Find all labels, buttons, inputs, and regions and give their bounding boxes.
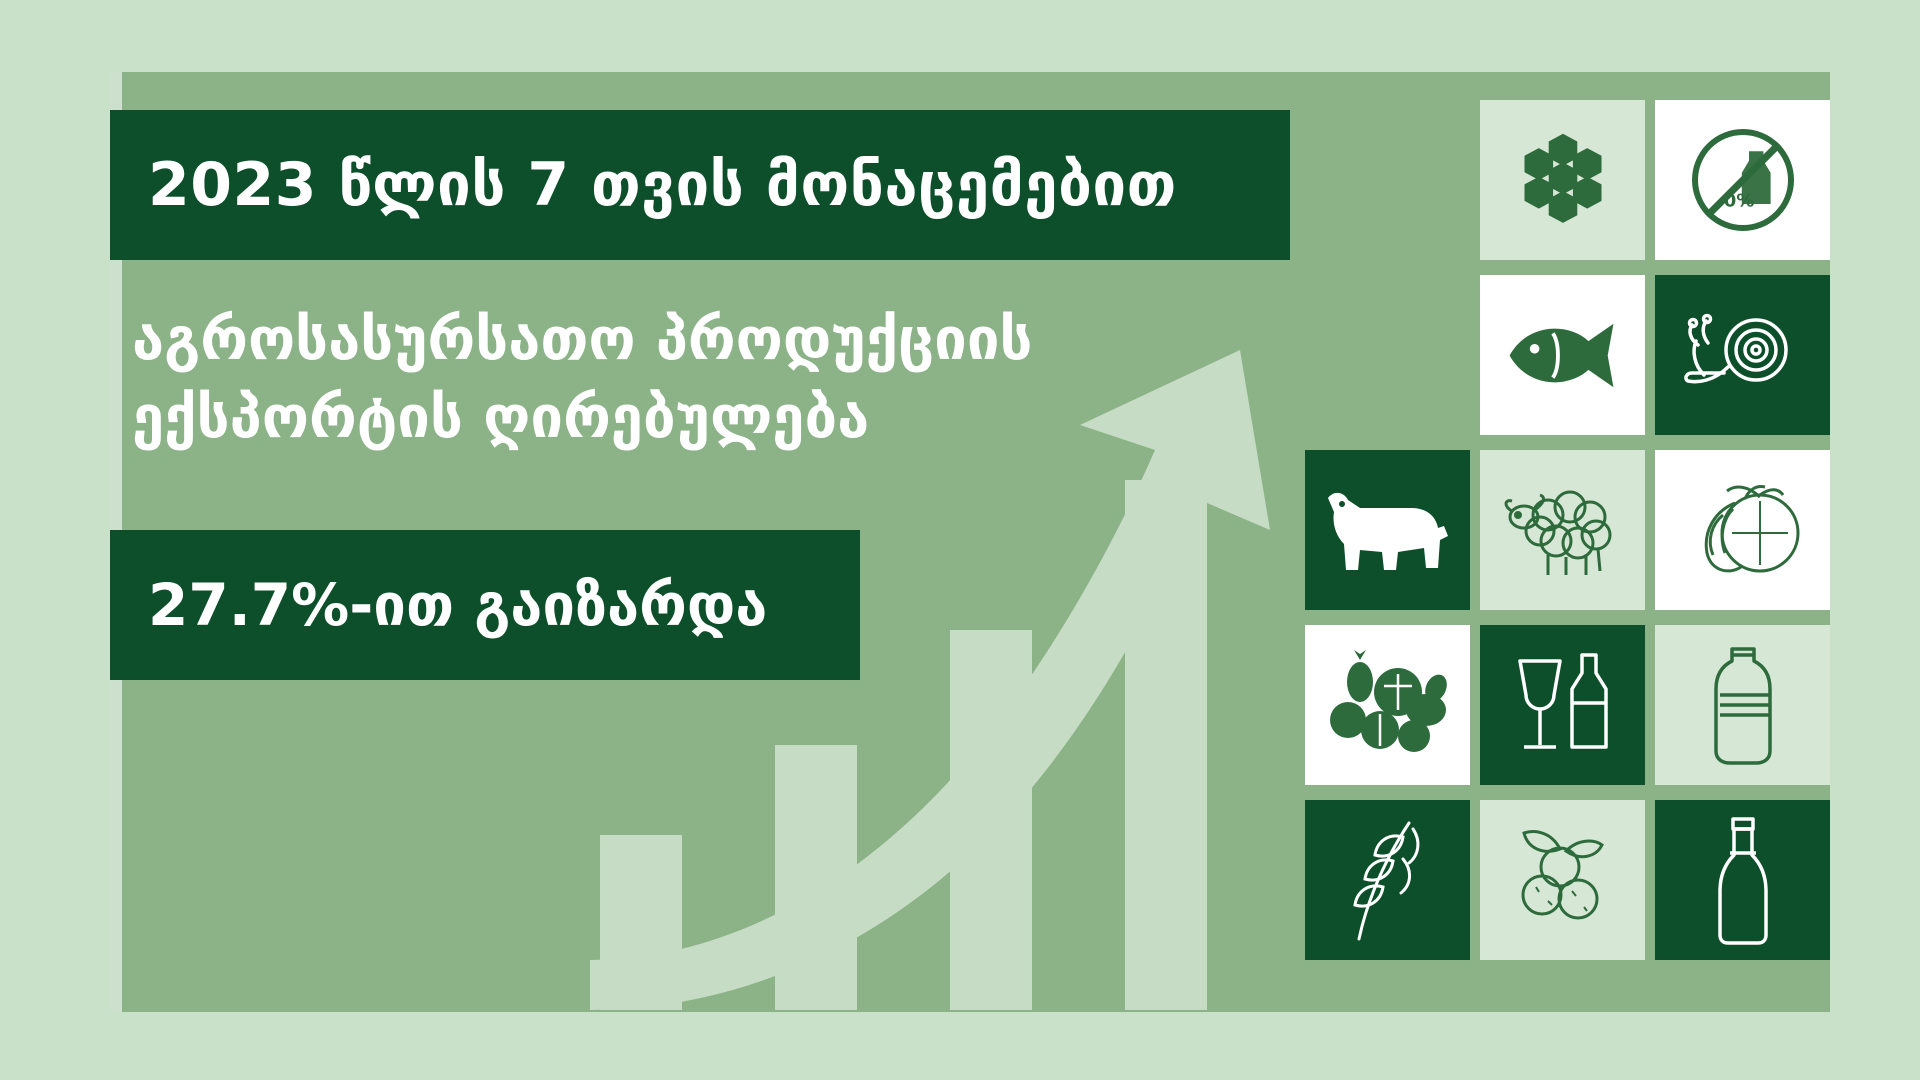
headline-line-1: აგროსასურსათო პროდუქციის	[132, 305, 1032, 373]
water-bottle-icon	[1698, 643, 1788, 768]
sheep-icon	[1500, 475, 1625, 585]
title-bar: 2023 წლის 7 თვის მონაცემებით	[110, 110, 1290, 260]
icon-cell-berries	[1480, 800, 1645, 960]
no-alcohol-icon: 0%	[1683, 120, 1803, 240]
glass-bottle-icon	[1703, 813, 1783, 948]
wine-icon	[1498, 645, 1628, 765]
headline-line-2: ექსპორტის ღირებულება	[132, 378, 1252, 456]
cow-icon	[1320, 478, 1455, 583]
icon-cell-glass-bottle	[1655, 800, 1830, 960]
stat-badge: 27.7%-ით გაიზარდა	[110, 530, 860, 680]
fish-icon	[1500, 308, 1625, 403]
headline: აგროსასურსათო პროდუქციის ექსპორტის ღირებ…	[132, 300, 1252, 457]
icon-cell-snail	[1655, 275, 1830, 435]
icon-cell-wine	[1480, 625, 1645, 785]
svg-text:0%: 0%	[1723, 190, 1754, 211]
herb-branch-icon	[1333, 815, 1443, 945]
tomato-melon-icon	[1675, 475, 1810, 585]
icon-cell-herb-branch	[1305, 800, 1470, 960]
icon-cell-fruits-vegetables	[1305, 625, 1470, 785]
icon-cell-fish	[1480, 275, 1645, 435]
title-text: 2023 წლის 7 თვის მონაცემებით	[110, 150, 1177, 220]
icon-cell-honeycomb	[1480, 100, 1645, 260]
chart-bar	[600, 835, 682, 1010]
infographic-poster: 2023 წლის 7 თვის მონაცემებით აგროსასურსა…	[0, 0, 1920, 1080]
berries-icon	[1498, 823, 1628, 938]
icon-cell-no-alcohol: 0%	[1655, 100, 1830, 260]
honeycomb-icon	[1508, 125, 1618, 235]
chart-bar	[950, 630, 1032, 1010]
fruits-vegetables-icon	[1318, 648, 1458, 763]
icon-cell-sheep	[1480, 450, 1645, 610]
chart-bar	[1125, 480, 1207, 1010]
icon-cell-cow	[1305, 450, 1470, 610]
icon-cell-water-bottle	[1655, 625, 1830, 785]
chart-bar	[775, 745, 857, 1010]
icon-cell-tomato-melon	[1655, 450, 1830, 610]
stat-badge-text: 27.7%-ით გაიზარდა	[110, 571, 767, 639]
snail-icon	[1678, 305, 1808, 405]
